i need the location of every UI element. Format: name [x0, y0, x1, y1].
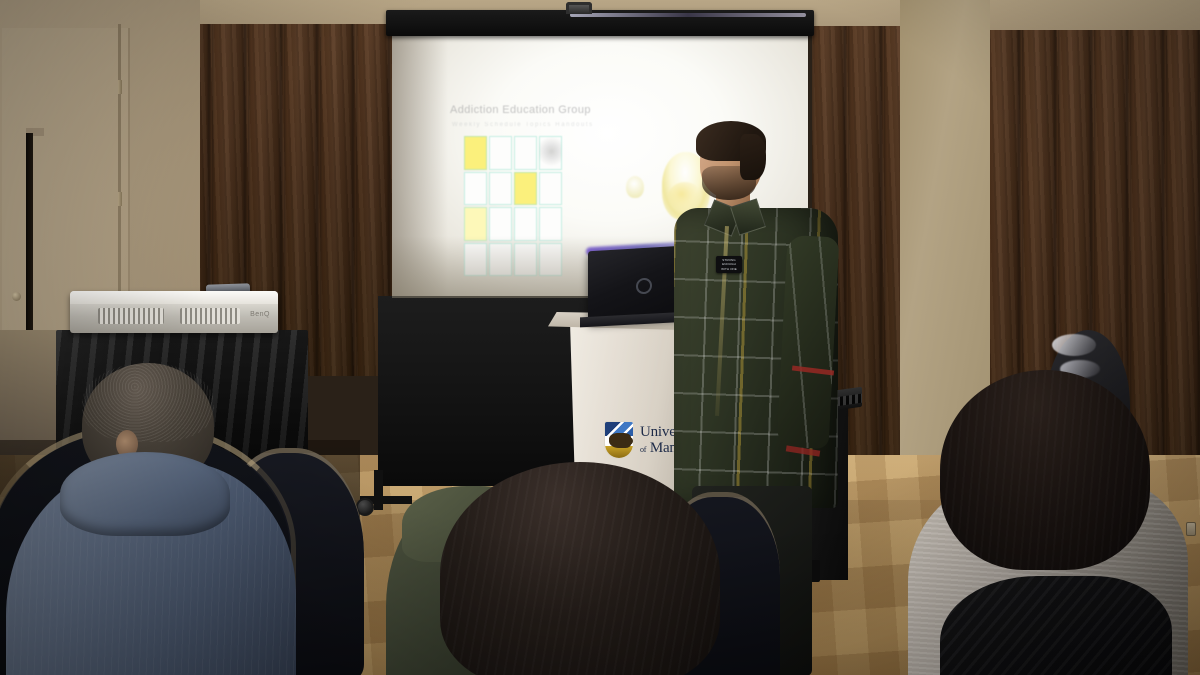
slide-photo-small	[626, 176, 644, 198]
grid-cell	[514, 136, 537, 170]
slide-subtitle: Weekly Schedule Topics Handouts	[452, 122, 594, 128]
projector: BenQ	[70, 291, 278, 333]
presenter-hair-side	[740, 134, 766, 180]
hoodie-hood	[60, 452, 230, 536]
slide-title: Addiction Education Group	[450, 104, 591, 116]
laptop-brand-logo-icon	[636, 278, 652, 295]
screen-pull-handle[interactable]	[566, 2, 592, 14]
projector-vent	[180, 308, 240, 324]
presenter-arm	[776, 235, 839, 449]
presenter-name-badge: STRONG ENOUGH WITH ONE	[716, 256, 742, 273]
grid-cell	[489, 136, 512, 170]
chair-gloss-highlight	[1052, 334, 1096, 356]
audience-member-right-hair	[940, 370, 1150, 570]
grid-cell-image	[539, 136, 562, 170]
bison-crest-icon	[604, 421, 634, 459]
door-hinge	[118, 192, 122, 206]
wall-outlet-single	[1186, 522, 1196, 536]
door-hinge	[118, 80, 122, 94]
bison-silhouette-icon	[609, 433, 631, 448]
audience-member-center-hair	[440, 462, 720, 675]
buzzcut-hair-texture	[82, 363, 214, 442]
presenter: STRONG ENOUGH WITH ONE	[668, 126, 844, 546]
projector-vent	[98, 308, 164, 324]
grid-cell	[514, 172, 537, 206]
presentation-scene-photo: Addiction Education Group Weekly Schedul…	[0, 0, 1200, 675]
screen-stand-leg	[374, 470, 383, 510]
wordmark-of: of	[640, 445, 646, 454]
projector-brand-label: BenQ	[250, 311, 270, 318]
grid-cell	[464, 172, 487, 206]
door-knob[interactable]	[12, 292, 21, 301]
badge-line-3: WITH ONE	[721, 267, 737, 271]
audience-member-right-coat	[940, 576, 1172, 675]
projector-top-panel	[70, 291, 278, 304]
grid-cell	[489, 172, 512, 206]
grid-cell	[539, 172, 562, 206]
door-opening-gap	[26, 133, 33, 355]
screen-casing-highlight	[570, 13, 806, 17]
grid-cell	[464, 136, 487, 170]
